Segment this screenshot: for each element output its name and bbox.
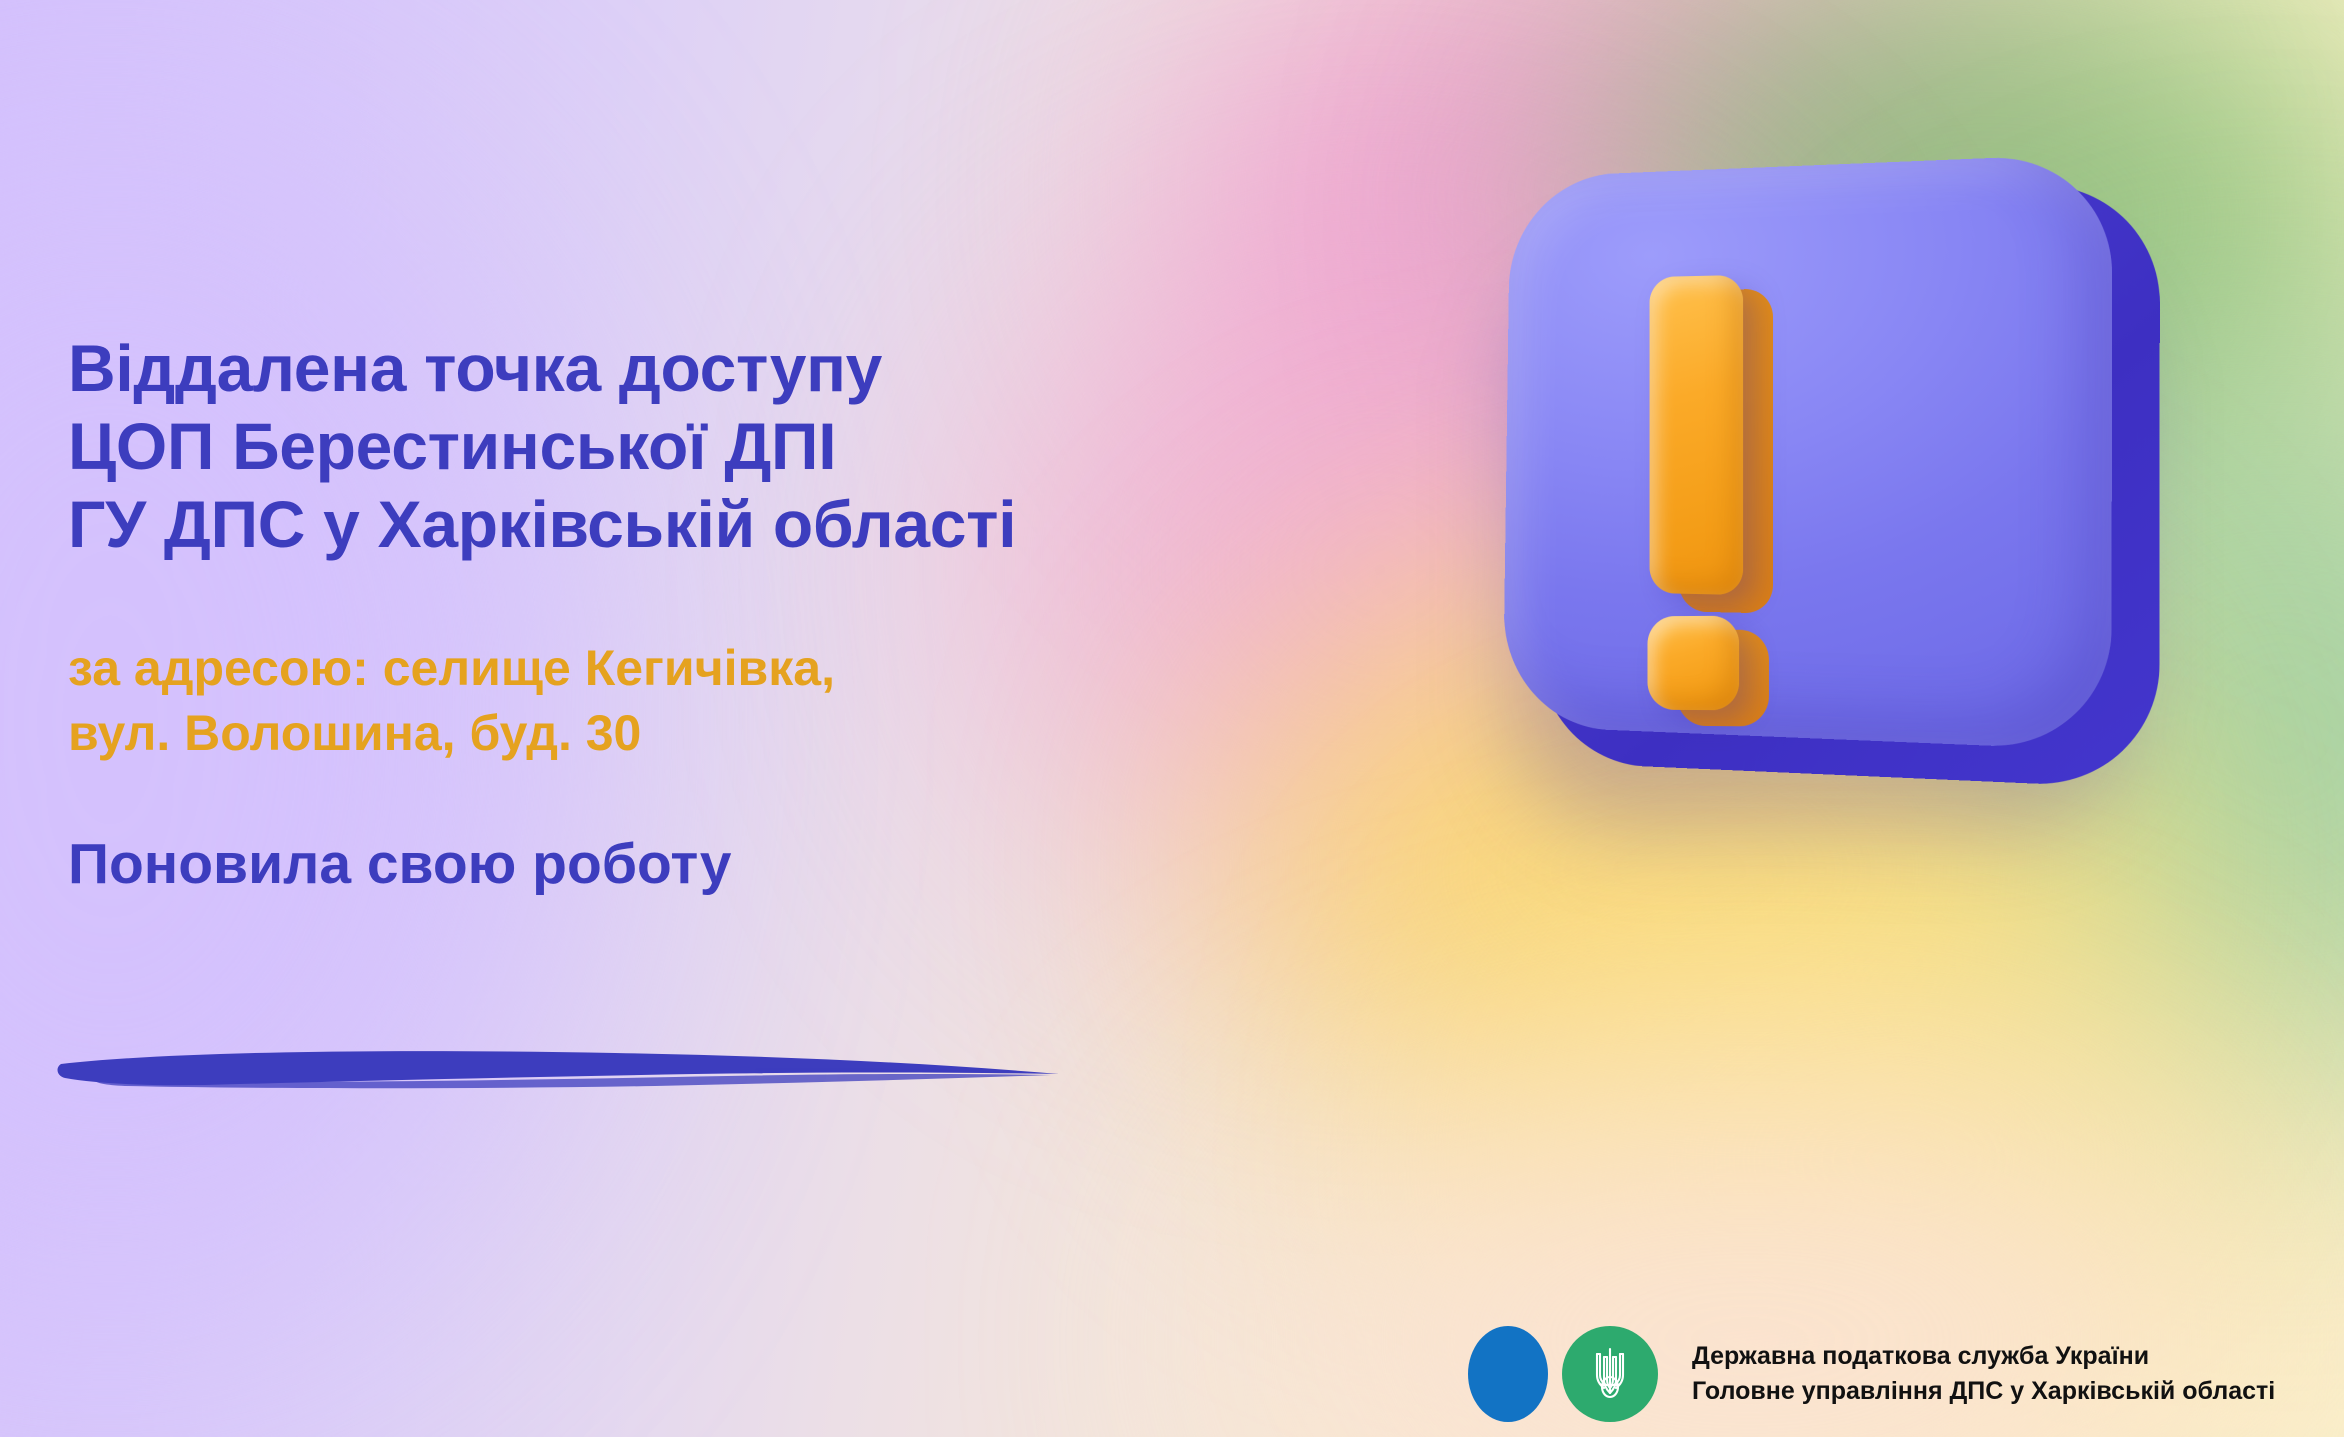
address-line-2: вул. Волошина, буд. 30	[68, 701, 1388, 766]
logo-text: Державна податкова служба України Головн…	[1692, 1339, 2275, 1409]
brush-stroke-underline-icon	[55, 1048, 1065, 1096]
address-line-1: за адресою: селище Кегичівка,	[68, 636, 1388, 701]
announcement-poster: Віддалена точка доступу ЦОП Берестинсько…	[0, 0, 2344, 1437]
address-text: за адресою: селище Кегичівка, вул. Волош…	[68, 564, 1388, 766]
ukraine-trident-icon	[1562, 1326, 1658, 1422]
organisation-logo: Державна податкова служба України Головн…	[1468, 1320, 2275, 1428]
headline-line-1: Віддалена точка доступу	[68, 330, 1388, 408]
exclamation-dot	[1648, 616, 1740, 711]
icon-card-face	[1503, 153, 2112, 751]
exclamation-bar	[1650, 275, 1744, 595]
logo-text-line-2: Головне управління ДПС у Харківській обл…	[1692, 1374, 2275, 1409]
trident-glyph	[1588, 1345, 1632, 1403]
headline-line-3: ГУ ДПС у Харківській області	[68, 486, 1388, 564]
poster-text-block: Віддалена точка доступу ЦОП Берестинсько…	[68, 330, 1388, 897]
headline-line-2: ЦОП Берестинської ДПІ	[68, 408, 1388, 486]
blue-ellipse-icon	[1468, 1326, 1548, 1422]
status-text: Поновила свою роботу	[68, 766, 1388, 898]
logo-text-line-1: Державна податкова служба України	[1692, 1339, 2275, 1374]
page-title: Віддалена точка доступу ЦОП Берестинсько…	[68, 330, 1388, 564]
exclamation-mark-3d-icon	[1440, 150, 2200, 870]
